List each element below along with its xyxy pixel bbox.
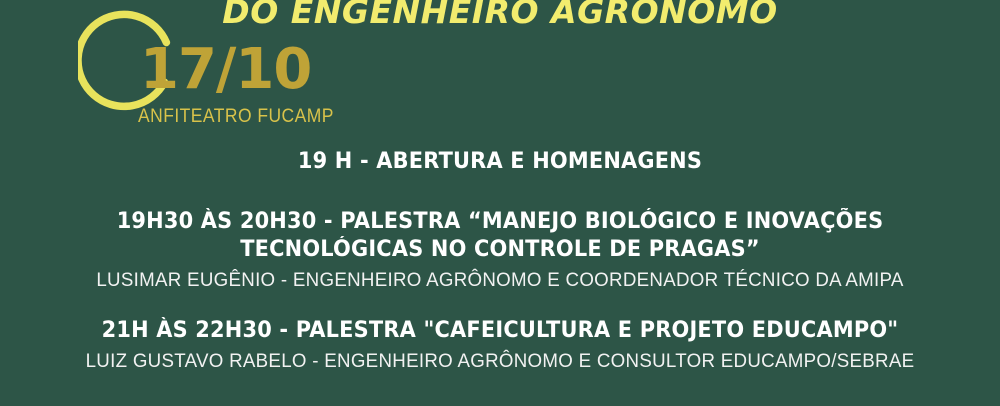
schedule-speaker: LUIZ GUSTAVO RABELO - ENGENHEIRO AGRÔNOM… [20, 349, 980, 373]
schedule-heading: 21H ÀS 22H30 - PALESTRA "CAFEICULTURA E … [25, 317, 975, 345]
event-poster: DO ENGENHEIRO AGRÔNOMO 17/10 ANFITEATRO … [0, 0, 1000, 406]
event-date: 17/10 [140, 42, 311, 98]
spacer [0, 293, 1000, 317]
schedule-item-talk-1: 19H30 ÀS 20H30 - PALESTRA “MANEJO BIOLÓG… [0, 208, 1000, 293]
schedule-item-talk-2: 21H ÀS 22H30 - PALESTRA "CAFEICULTURA E … [0, 317, 1000, 374]
schedule-item-opening: 19 H - ABERTURA E HOMENAGENS [0, 148, 1000, 176]
schedule-heading-continued: TECNOLÓGICAS NO CONTROLE DE PRAGAS” [25, 236, 975, 264]
spacer [0, 176, 1000, 208]
schedule-heading: 19 H - ABERTURA E HOMENAGENS [25, 148, 975, 176]
schedule-speaker: LUSIMAR EUGÊNIO - ENGENHEIRO AGRÔNOMO E … [20, 268, 980, 292]
schedule-heading: 19H30 ÀS 20H30 - PALESTRA “MANEJO BIOLÓG… [25, 208, 975, 236]
schedule-list: 19 H - ABERTURA E HOMENAGENS 19H30 ÀS 20… [0, 148, 1000, 373]
event-venue: ANFITEATRO FUCAMP [138, 107, 334, 126]
event-logo-block: 17/10 ANFITEATRO FUCAMP [0, 0, 330, 135]
